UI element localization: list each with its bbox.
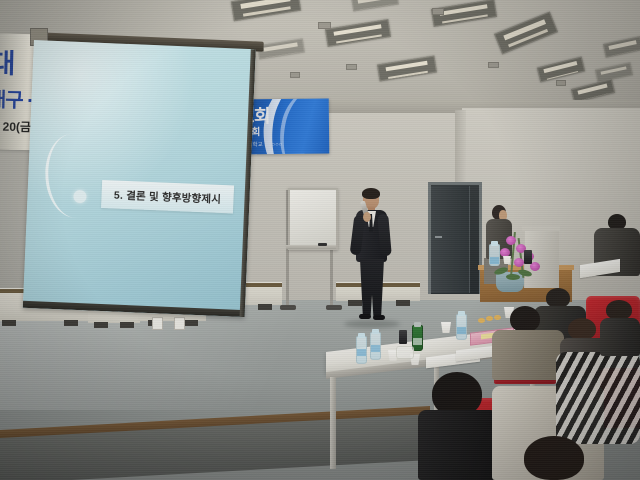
person-body (600, 318, 640, 356)
snack-item (478, 318, 485, 323)
audience-member (600, 300, 640, 356)
water-bottle (356, 336, 367, 364)
dark-can (524, 250, 532, 264)
paper-cup (503, 256, 511, 264)
orchid-bloom-icon (506, 236, 516, 245)
whiteboard (288, 188, 338, 250)
person-hair (546, 288, 570, 308)
person-hair (606, 300, 632, 320)
marker-icon (318, 243, 327, 246)
ceiling-vent-icon (346, 64, 357, 70)
person-hair (510, 306, 540, 332)
slide-heading-text: 5. 결론 및 향후방향제시 (114, 187, 222, 206)
person-hair (568, 318, 596, 340)
door-handle-icon[interactable] (435, 236, 442, 238)
ceiling-vent-icon (556, 80, 566, 86)
presenter-trousers (360, 259, 384, 317)
whiteboard-caster-foot (326, 305, 342, 310)
projection-screen: 5. 결론 및 향후방향제시 (23, 40, 256, 317)
water-bottle (456, 314, 467, 340)
whiteboard-marker-tray (286, 245, 336, 249)
table-leg (330, 377, 336, 469)
audience-member (418, 370, 498, 480)
paper-cup (441, 322, 451, 333)
audience-member (556, 352, 640, 444)
dark-can (399, 330, 407, 344)
audience-member (492, 306, 564, 380)
whiteboard-caster-foot (280, 305, 296, 310)
ceiling-vent-icon (432, 8, 444, 15)
presenter-hand (363, 212, 371, 222)
wall-outlet-icon (174, 317, 185, 330)
person-body (492, 330, 564, 380)
screen-side-edge (240, 49, 256, 317)
person-hair (524, 436, 584, 480)
ceiling-vent-icon (318, 22, 331, 29)
presenter-shoe (373, 315, 385, 320)
presenter-hair (362, 188, 380, 199)
presenter-right-arm (377, 214, 392, 257)
projection-screen-assembly: 5. 결론 및 향후방향제시 (32, 32, 256, 304)
slide-heading-bar: 5. 결론 및 향후방향제시 (101, 180, 234, 214)
wall-outlet-icon (152, 317, 163, 330)
presenter-shoe (359, 314, 371, 319)
person-body (418, 410, 498, 480)
person-scarf (556, 352, 640, 444)
audience-member (524, 436, 606, 480)
presentation-hall-photo: 대 대구 · 1. 20(금) 1 표회 표회 ○○대학교 ○○○○○ 5. 결… (0, 0, 640, 480)
orchid-bloom-icon (500, 248, 510, 257)
water-bottle (489, 244, 500, 266)
presenter (349, 190, 393, 326)
door-leaf[interactable] (431, 186, 470, 293)
ceiling-vent-icon (488, 62, 499, 68)
orchid-leaf-icon (506, 274, 520, 280)
orchid-bloom-icon (514, 258, 524, 267)
plastic-bag (396, 346, 414, 359)
water-bottle (370, 332, 381, 360)
lectern-top (522, 226, 560, 231)
ceiling-vent-icon (290, 72, 300, 78)
